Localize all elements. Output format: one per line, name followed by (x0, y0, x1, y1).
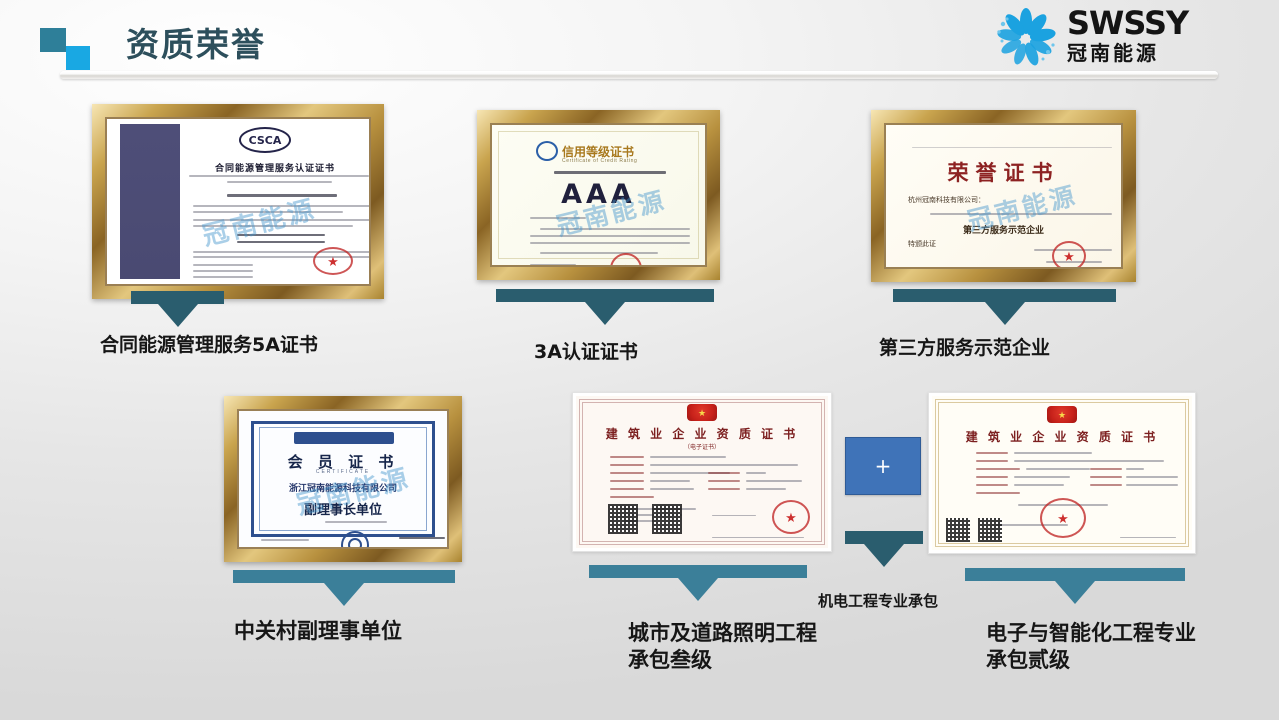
certificate-image-cert-4[interactable]: 会 员 证 书 CERTIFICATE 浙江冠南能源科技有限公司 副理事长单位 … (224, 396, 462, 562)
qr-code-right-icon (978, 518, 1002, 542)
caption-cert-4: 中关村副理事单位 (234, 618, 514, 645)
certificate-image-cert-6[interactable]: 建 筑 业 企 业 资 质 证 书 ★ (928, 392, 1196, 554)
cert-subtitle-text: Certificate of Credit Rating (562, 158, 637, 164)
national-emblem-icon (687, 404, 717, 421)
cert-company-text: 杭州冠南科技有限公司： (908, 195, 985, 205)
cert-award-text: 副理事长单位 (239, 499, 447, 518)
caption-cert-1: 合同能源管理服务5A证书 (100, 333, 400, 358)
callout-arrow-cert-1 (131, 291, 224, 327)
caption-cert-3: 第三方服务示范企业 (879, 336, 1159, 361)
callout-arrow-cert-4 (233, 570, 455, 606)
cert-title-text: 合同能源管理服务认证证书 (187, 161, 363, 174)
brand-text: SWSSY 冠南能源 (1067, 6, 1188, 66)
cert-company-text: 浙江冠南能源科技有限公司 (239, 481, 447, 494)
caption-cert-2: 3A认证证书 (534, 340, 814, 365)
red-seal-icon: ★ (1052, 241, 1086, 269)
slide-root: 资质荣誉 (0, 0, 1279, 720)
red-seal-icon: ★ (772, 500, 810, 534)
brand-logo: SWSSY 冠南能源 (993, 6, 1263, 70)
cert-title-text: 建 筑 业 企 业 资 质 证 书 (576, 425, 828, 442)
cert-note-text: 特颁此证 (908, 239, 936, 249)
certificate-image-cert-5[interactable]: 建 筑 业 企 业 资 质 证 书 （电子证书） (572, 392, 832, 552)
brand-name-cn: 冠南能源 (1067, 40, 1188, 66)
certificate-image-cert-1[interactable]: CSCA 合同能源管理服务认证证书 ★ 冠南能源 (92, 104, 384, 299)
red-seal-icon: ★ (313, 247, 353, 275)
national-emblem-icon (1047, 406, 1077, 423)
qr-code-right-icon (652, 504, 682, 534)
callout-arrow-cert-5 (589, 565, 807, 601)
cert-award-text: 第三方服务示范企业 (886, 223, 1121, 236)
header-decoration-squares (40, 28, 96, 70)
cert-grade-text: AAA (492, 179, 705, 210)
certificate-image-cert-3[interactable]: 荣誉证书 杭州冠南科技有限公司： 第三方服务示范企业 特颁此证 ★ 冠南能源 (871, 110, 1136, 282)
callout-arrow-cert-3 (893, 289, 1116, 325)
header-divider (60, 71, 1218, 79)
qr-code-left-icon (946, 518, 970, 542)
caption-cert-5: 城市及道路照明工程承包叁级 (628, 620, 828, 675)
callout-arrow-cert-2 (496, 289, 714, 325)
callout-arrow-extra (845, 531, 923, 567)
decor-square-light-icon (66, 46, 90, 70)
page-title: 资质荣誉 (126, 18, 266, 66)
cert-subtitle-text: CERTIFICATE (239, 469, 447, 475)
certificate-image-cert-2[interactable]: 信用等级证书 Certificate of Credit Rating AAA … (477, 110, 720, 280)
watermark-text: 冠南能源 (198, 189, 320, 253)
decor-square-dark-icon (40, 28, 66, 52)
brand-name: SWSSY (1067, 6, 1188, 40)
qr-code-left-icon (608, 504, 638, 534)
petal-burst-logo-icon (993, 8, 1059, 68)
callout-arrow-cert-6 (965, 568, 1185, 604)
red-seal-icon: ★ (1040, 498, 1086, 538)
cert-title-text: 建 筑 业 企 业 资 质 证 书 (932, 428, 1192, 445)
cert-title-text: 荣誉证书 (886, 157, 1121, 187)
add-button[interactable]: + (845, 437, 921, 495)
caption-cert-6: 电子与智能化工程专业承包贰级 (986, 620, 1196, 675)
cert-subtitle-text: （电子证书） (576, 442, 828, 451)
